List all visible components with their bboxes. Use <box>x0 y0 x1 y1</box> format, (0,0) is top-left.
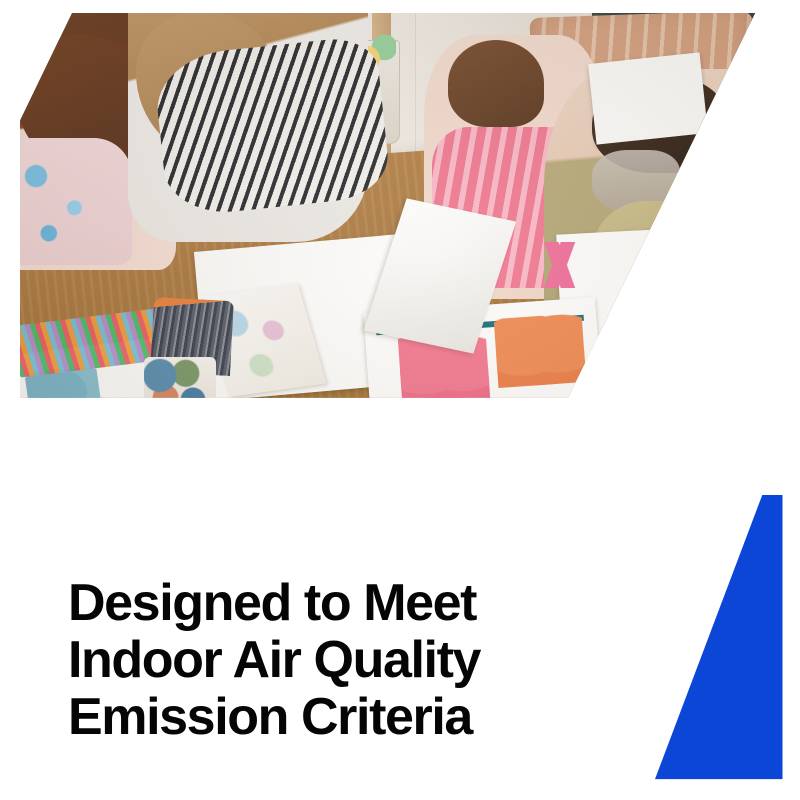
headline-line-3: Emission Criteria <box>68 689 628 746</box>
paper-sheet <box>588 52 708 144</box>
grapefruit-drawing <box>80 403 116 432</box>
page-title: Designed to Meet Indoor Air Quality Emis… <box>68 575 628 746</box>
paper-sheet <box>333 407 531 512</box>
boy-hair <box>448 40 544 126</box>
blue-angled-wedge <box>640 490 790 785</box>
table-edge <box>319 537 800 575</box>
orange-butterfly-drawing <box>494 313 587 388</box>
girl-sequin-dress <box>4 138 132 265</box>
headline-line-2: Indoor Air Quality <box>68 632 628 689</box>
hero-photo <box>0 0 800 575</box>
woman-striped-sweater <box>152 35 392 219</box>
pink-scissors <box>528 242 592 288</box>
green-scissors <box>320 403 384 449</box>
polka-dot-mug <box>144 357 216 432</box>
poster-canvas: Designed to Meet Indoor Air Quality Emis… <box>0 0 800 800</box>
area-rug <box>400 403 800 576</box>
hero-photo-scene <box>0 0 800 575</box>
rug-zigzag-pattern <box>448 454 768 558</box>
star-sticker <box>672 357 712 392</box>
headline-line-1: Designed to Meet <box>68 575 628 632</box>
man-dark-jeans <box>282 393 565 575</box>
